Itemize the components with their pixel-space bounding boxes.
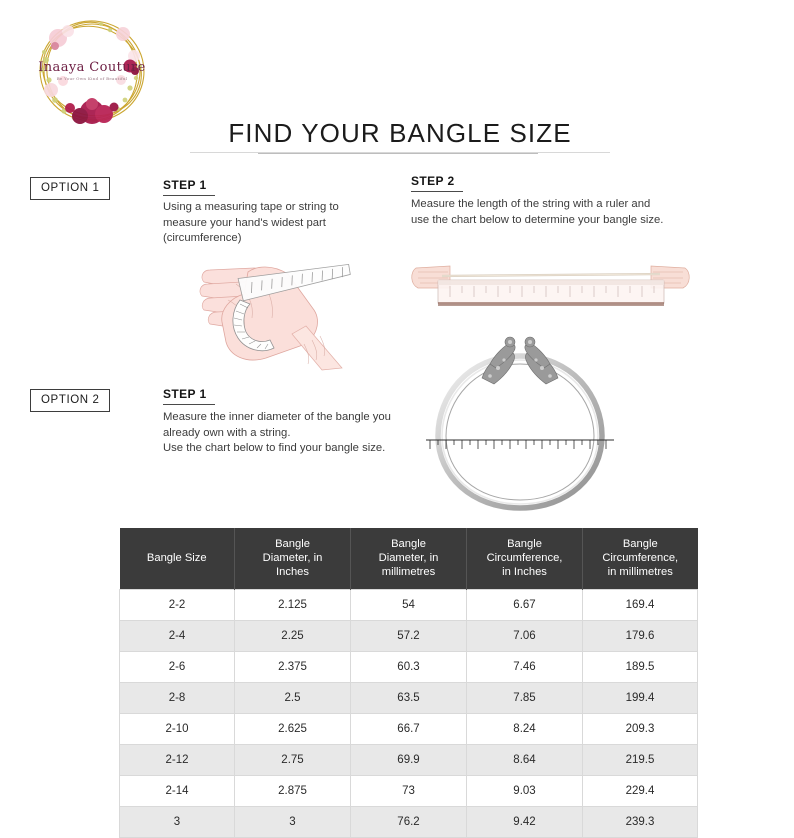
brand-name: Inaaya Couture [22, 60, 162, 75]
cell-value: 57.2 [351, 621, 467, 652]
cell-bangle-size: 2-4 [120, 621, 235, 652]
option-2-badge: OPTION 2 [30, 389, 110, 412]
cell-value: 3 [235, 807, 351, 838]
cell-value: 6.67 [467, 590, 583, 621]
table-row: 2-42.2557.27.06179.6 [120, 621, 698, 652]
table-row: 2-22.125546.67169.4 [120, 590, 698, 621]
table-row: 2-122.7569.98.64219.5 [120, 745, 698, 776]
cell-value: 229.4 [583, 776, 698, 807]
cell-value: 239.3 [583, 807, 698, 838]
cell-value: 54 [351, 590, 467, 621]
brand-logo: Inaaya Couture Be Your Own Kind of Beaut… [22, 8, 162, 138]
cell-bangle-size: 2-6 [120, 652, 235, 683]
option-1-step-1-text: Using a measuring tape or string to meas… [163, 200, 373, 247]
cell-value: 219.5 [583, 745, 698, 776]
column-header-diameter-mm: BangleDiameter, inmillimetres [351, 528, 467, 590]
column-header-circumference-mm: BangleCircumference,in millimetres [583, 528, 698, 590]
cell-value: 60.3 [351, 652, 467, 683]
cell-bangle-size: 2-10 [120, 714, 235, 745]
table-row: 2-62.37560.37.46189.5 [120, 652, 698, 683]
option-1-step-2-text: Measure the length of the string with a … [411, 197, 669, 228]
hand-with-measuring-tape-illustration [196, 248, 366, 383]
cell-value: 2.75 [235, 745, 351, 776]
table-row: 2-142.875739.03229.4 [120, 776, 698, 807]
option-1-badge: OPTION 1 [30, 177, 110, 200]
cell-value: 7.06 [467, 621, 583, 652]
cell-value: 73 [351, 776, 467, 807]
cell-value: 9.03 [467, 776, 583, 807]
title-divider-accent [258, 153, 538, 154]
option-2-step-1-text: Measure the inner diameter of the bangle… [163, 410, 408, 457]
cell-value: 8.24 [467, 714, 583, 745]
cell-bangle-size: 2-2 [120, 590, 235, 621]
cell-value: 63.5 [351, 683, 467, 714]
cell-value: 2.875 [235, 776, 351, 807]
silver-bangle-with-ruler-illustration [424, 330, 616, 520]
cell-value: 9.42 [467, 807, 583, 838]
page-title: FIND YOUR BANGLE SIZE [180, 118, 620, 149]
cell-bangle-size: 2-8 [120, 683, 235, 714]
cell-value: 2.125 [235, 590, 351, 621]
table-row: 2-102.62566.78.24209.3 [120, 714, 698, 745]
cell-value: 179.6 [583, 621, 698, 652]
cell-value: 7.46 [467, 652, 583, 683]
cell-bangle-size: 2-14 [120, 776, 235, 807]
cell-value: 69.9 [351, 745, 467, 776]
column-header-diameter-inches: BangleDiameter, inInches [235, 528, 351, 590]
cell-value: 7.85 [467, 683, 583, 714]
table-row: 3376.29.42239.3 [120, 807, 698, 838]
hands-holding-string-on-ruler-illustration [408, 250, 693, 328]
cell-value: 2.25 [235, 621, 351, 652]
option-2-step-1-heading: STEP 1 [163, 387, 215, 405]
table-row: 2-82.563.57.85199.4 [120, 683, 698, 714]
table-header-row: Bangle Size BangleDiameter, inInches Ban… [120, 528, 698, 590]
cell-value: 2.5 [235, 683, 351, 714]
option-1-step-2-heading: STEP 2 [411, 174, 463, 192]
cell-value: 209.3 [583, 714, 698, 745]
cell-value: 66.7 [351, 714, 467, 745]
bangle-size-table: Bangle Size BangleDiameter, inInches Ban… [119, 528, 698, 838]
cell-value: 189.5 [583, 652, 698, 683]
brand-tagline: Be Your Own Kind of Beautiful [22, 76, 162, 81]
cell-bangle-size: 3 [120, 807, 235, 838]
table-body: 2-22.125546.67169.42-42.2557.27.06179.62… [120, 590, 698, 838]
column-header-bangle-size: Bangle Size [120, 528, 235, 590]
cell-value: 169.4 [583, 590, 698, 621]
cell-value: 76.2 [351, 807, 467, 838]
cell-bangle-size: 2-12 [120, 745, 235, 776]
cell-value: 2.625 [235, 714, 351, 745]
option-1-step-1-heading: STEP 1 [163, 178, 215, 196]
cell-value: 199.4 [583, 683, 698, 714]
cell-value: 2.375 [235, 652, 351, 683]
cell-value: 8.64 [467, 745, 583, 776]
column-header-circumference-inches: BangleCircumference,in Inches [467, 528, 583, 590]
